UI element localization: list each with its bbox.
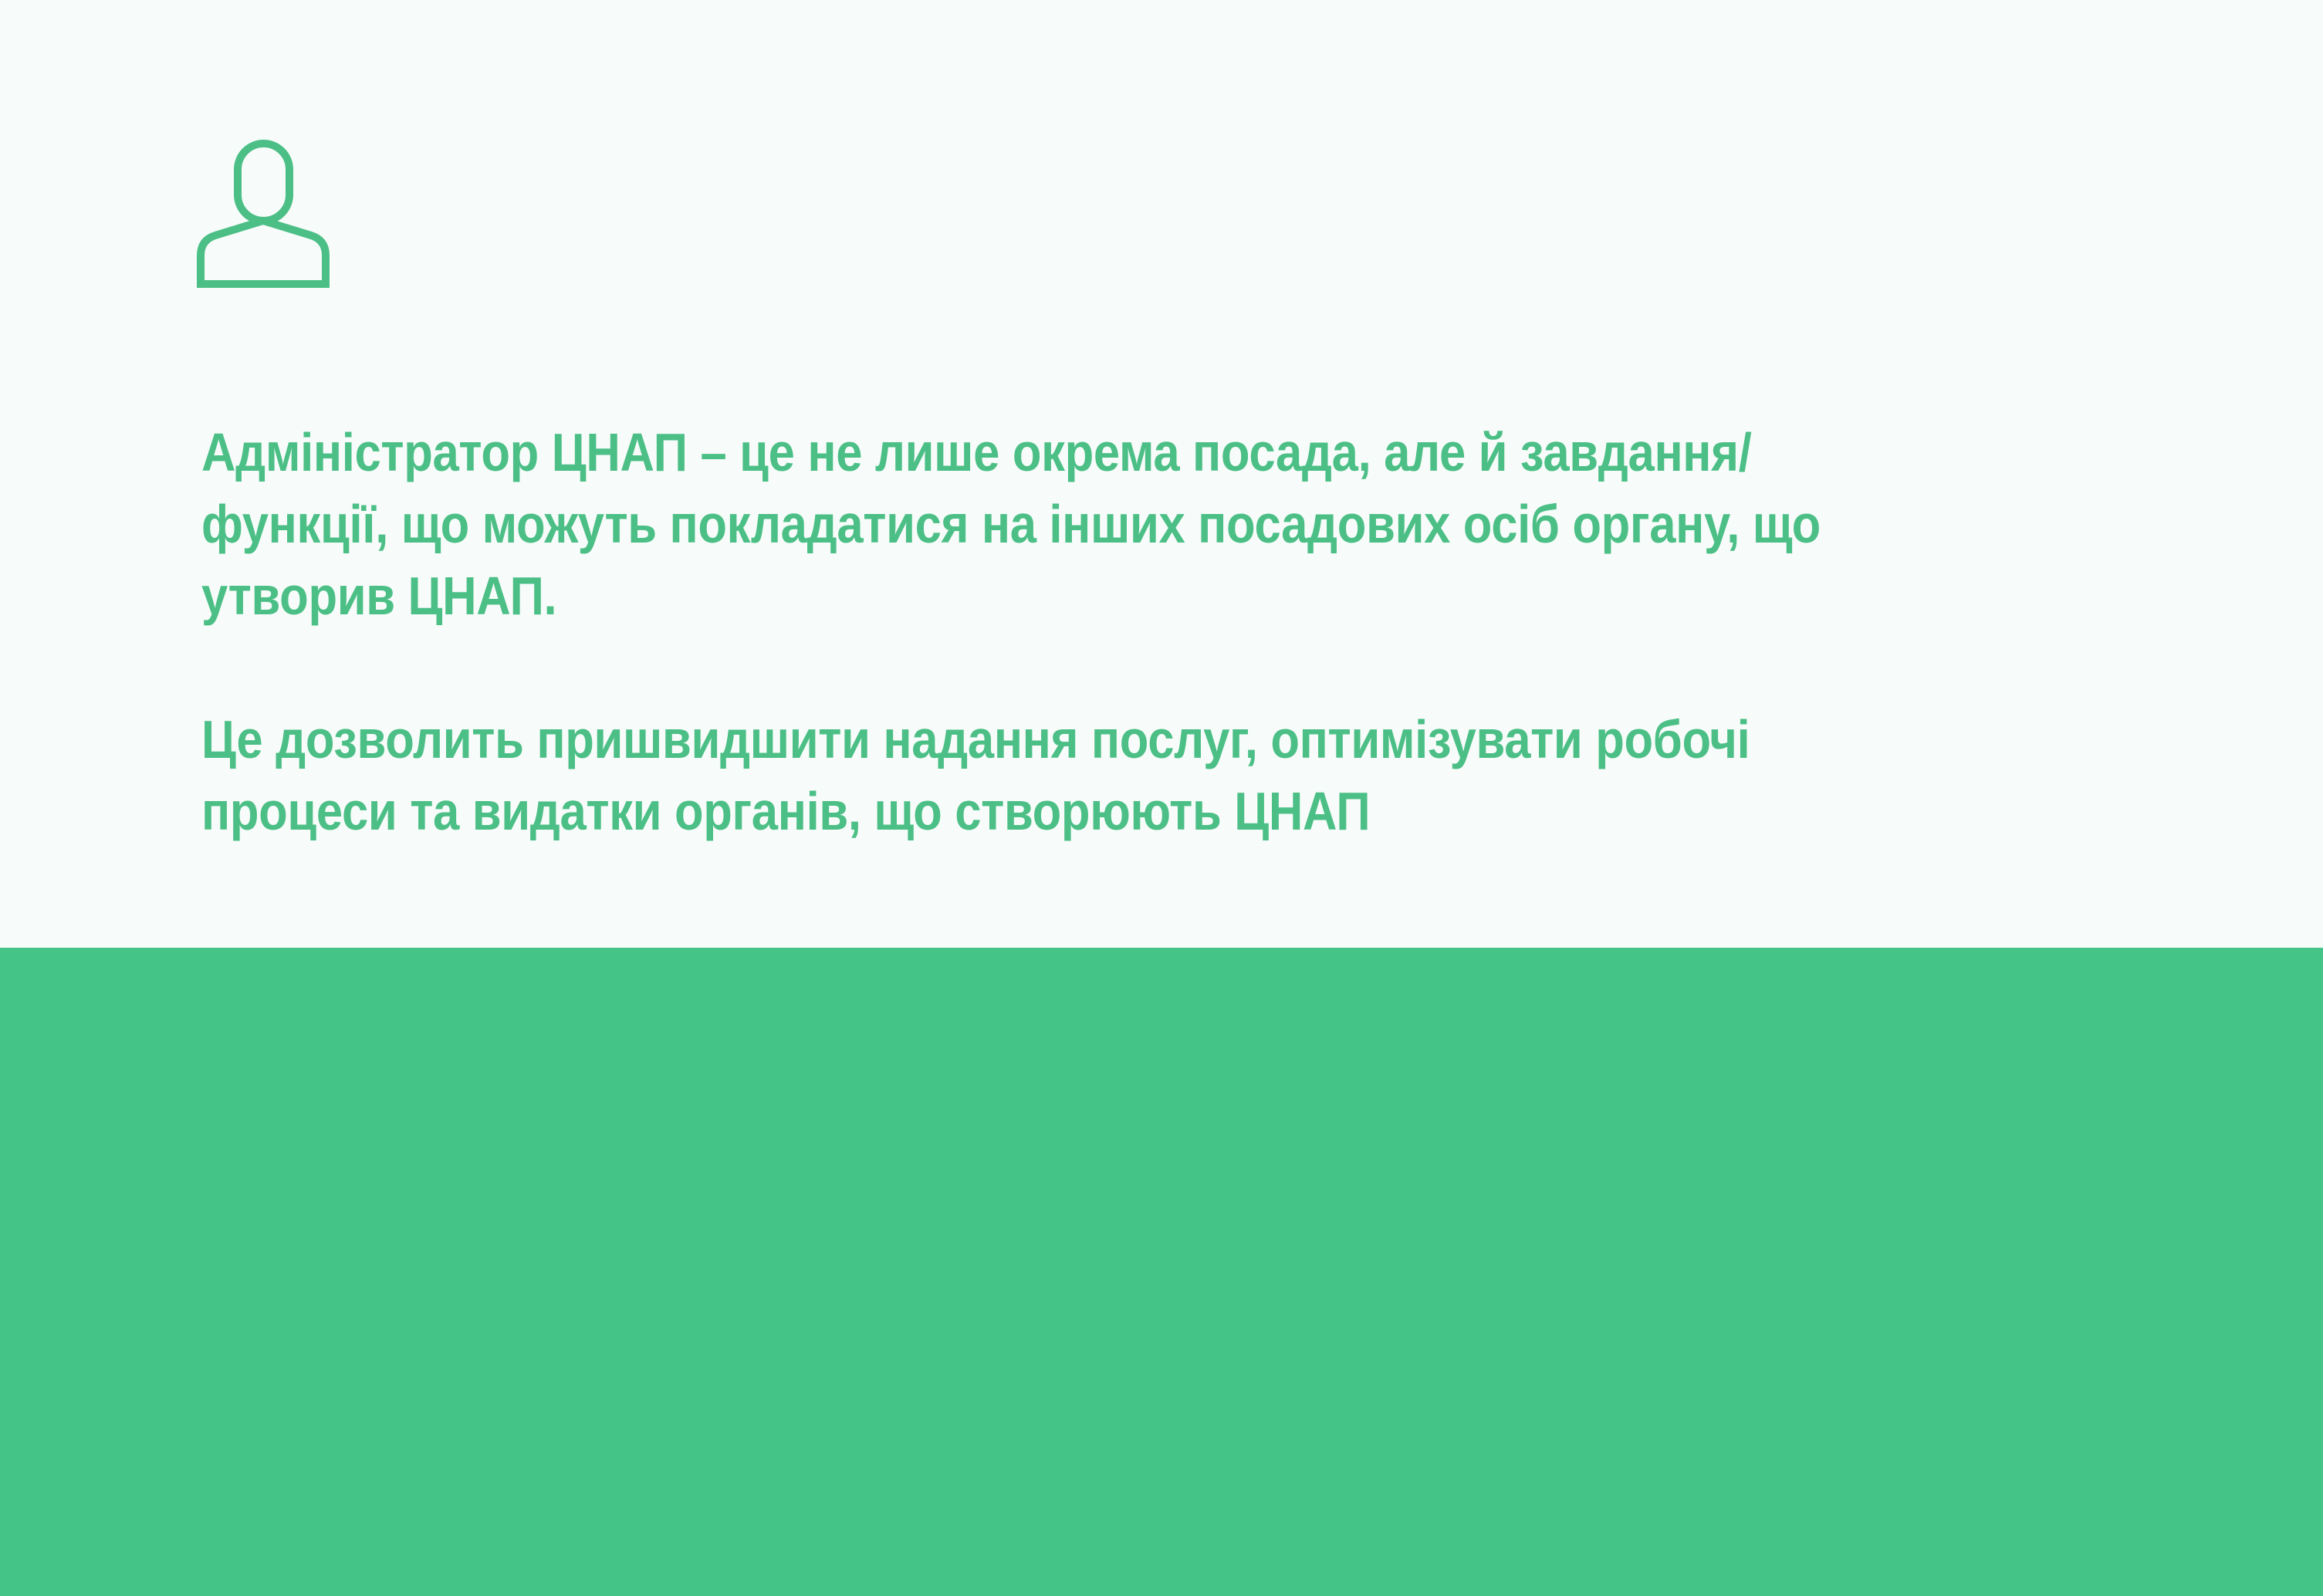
slide: Адміністратор ЦНАП – це не лише окрема п…	[0, 0, 2323, 1596]
person-icon	[194, 139, 333, 290]
body-copy: Адміністратор ЦНАП – це не лише окрема п…	[201, 417, 1899, 847]
footer-band: U-LEAD З ЄВРОПОЮ Покращення якості надан…	[0, 948, 2323, 1596]
paragraph-spacer	[201, 632, 1899, 704]
paragraph-1: Адміністратор ЦНАП – це не лише окрема п…	[201, 417, 1899, 632]
upper-section: Адміністратор ЦНАП – це не лише окрема п…	[0, 0, 2323, 948]
paragraph-2: Це дозволить пришвидшити надання послуг,…	[201, 704, 1899, 847]
